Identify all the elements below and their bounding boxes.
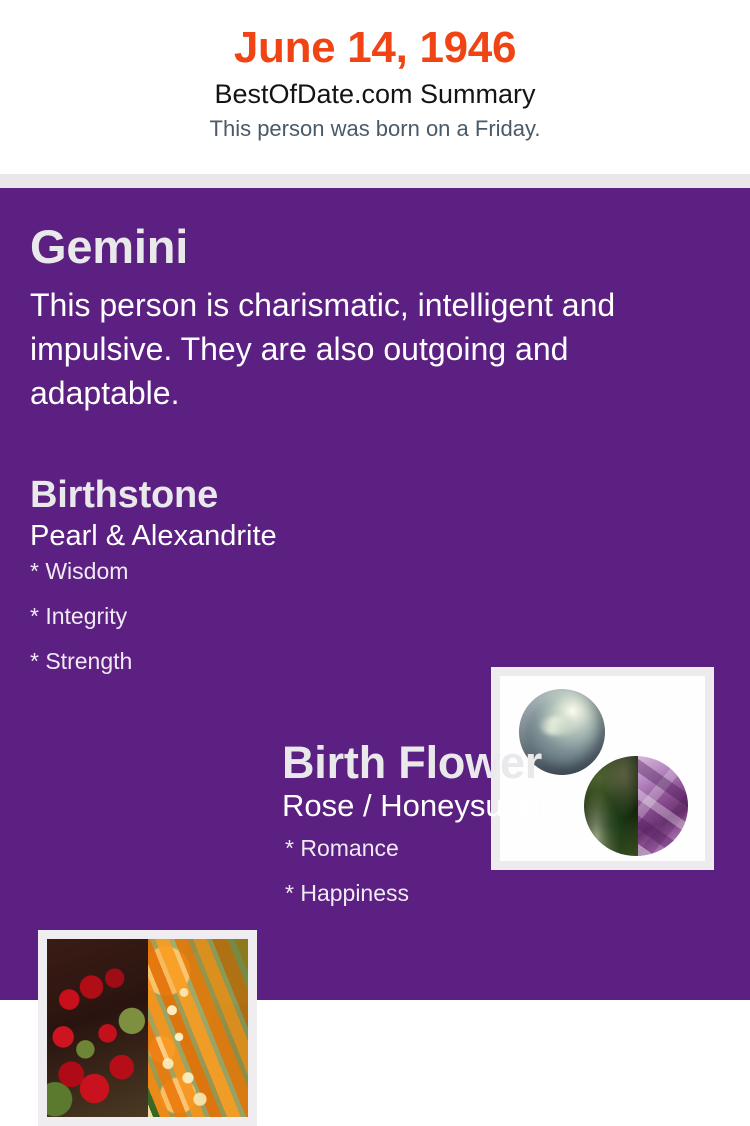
site-name: BestOfDate.com Summary bbox=[0, 72, 750, 110]
birthstone-title: Birthstone bbox=[30, 476, 470, 514]
birthstone-section: Birthstone Pearl & Alexandrite * Wisdom … bbox=[30, 476, 470, 695]
birthstone-names: Pearl & Alexandrite bbox=[30, 514, 470, 551]
list-item: * Romance bbox=[285, 837, 732, 882]
list-item: * Integrity bbox=[30, 605, 470, 650]
page-title: June 14, 1946 bbox=[0, 0, 750, 72]
birth-flower-trait-list: * Romance * Happiness bbox=[282, 823, 732, 927]
birth-flower-section: Birth Flower Rose / Honeysuckle * Romanc… bbox=[282, 740, 732, 927]
list-item: * Strength bbox=[30, 650, 470, 695]
birth-flower-image bbox=[38, 930, 257, 1126]
details-panel: Gemini This person is charismatic, intel… bbox=[0, 188, 750, 1000]
header: June 14, 1946 BestOfDate.com Summary Thi… bbox=[0, 0, 750, 174]
birth-flower-image-canvas bbox=[47, 939, 248, 1117]
list-item: * Happiness bbox=[285, 882, 732, 927]
list-item: * Wisdom bbox=[30, 560, 470, 605]
zodiac-description: This person is charismatic, intelligent … bbox=[30, 270, 690, 415]
birthstone-trait-list: * Wisdom * Integrity * Strength bbox=[30, 551, 470, 695]
honeysuckle-photo-half bbox=[148, 939, 249, 1117]
rose-photo-half bbox=[47, 939, 148, 1117]
zodiac-section: Gemini This person is charismatic, intel… bbox=[30, 223, 720, 415]
birth-day-note: This person was born on a Friday. bbox=[0, 109, 750, 141]
birth-flower-title: Birth Flower bbox=[282, 740, 732, 785]
header-divider bbox=[0, 174, 750, 188]
birth-flower-names: Rose / Honeysuckle bbox=[282, 785, 732, 823]
summary-card: June 14, 1946 BestOfDate.com Summary Thi… bbox=[0, 0, 750, 1000]
zodiac-sign-title: Gemini bbox=[30, 223, 720, 270]
